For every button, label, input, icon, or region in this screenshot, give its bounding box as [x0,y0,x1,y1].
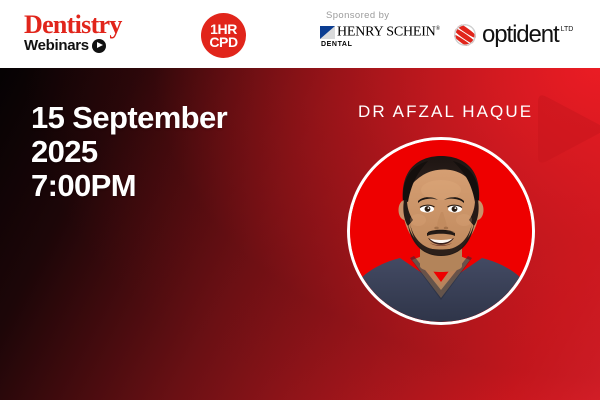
webinar-promo-banner: Dentistry Webinars 1HR CPD Sponsored by … [0,0,600,400]
event-date-line2: 2025 [31,135,227,169]
henry-schein-name: HENRY SCHEIN® [337,23,440,39]
henry-schein-flag-icon [320,26,335,39]
play-circle-icon [92,39,106,53]
brand-primary-text: Dentistry [24,13,144,37]
event-date-line1: 15 September [31,101,227,135]
henry-schein-subtitle: DENTAL [321,41,440,48]
speaker-avatar [347,137,535,325]
sponsored-by-label: Sponsored by [326,10,585,21]
dentistry-webinars-logo[interactable]: Dentistry Webinars [24,13,144,57]
speaker-name: DR AFZAL HAQUE [358,102,533,122]
henry-schein-wordmark-row: HENRY SCHEIN® [320,23,440,39]
event-date-block: 15 September 2025 7:00PM [31,101,227,203]
henry-schein-logo[interactable]: HENRY SCHEIN® DENTAL [320,23,440,48]
banner-stage: 15 September 2025 7:00PM DR AFZAL HAQUE [0,68,600,400]
optident-wordmark: optident [482,23,559,47]
sponsor-logo-row: HENRY SCHEIN® DENTAL optident LTD [320,23,585,48]
banner-header: Dentistry Webinars 1HR CPD Sponsored by … [0,0,600,68]
optident-sphere-icon [454,24,476,46]
play-triangle-watermark-icon [528,90,600,166]
registered-mark: ® [436,26,440,32]
cpd-badge-line2: CPD [209,36,237,49]
optident-logo[interactable]: optident LTD [454,23,573,47]
brand-secondary-text: Webinars [24,38,89,53]
event-time: 7:00PM [31,169,227,203]
sponsors-block: Sponsored by HENRY SCHEIN® DENTAL [320,10,585,60]
brand-secondary-row: Webinars [24,38,144,53]
cpd-hours-badge: 1HR CPD [201,13,246,58]
optident-trademark: LTD [561,26,574,33]
